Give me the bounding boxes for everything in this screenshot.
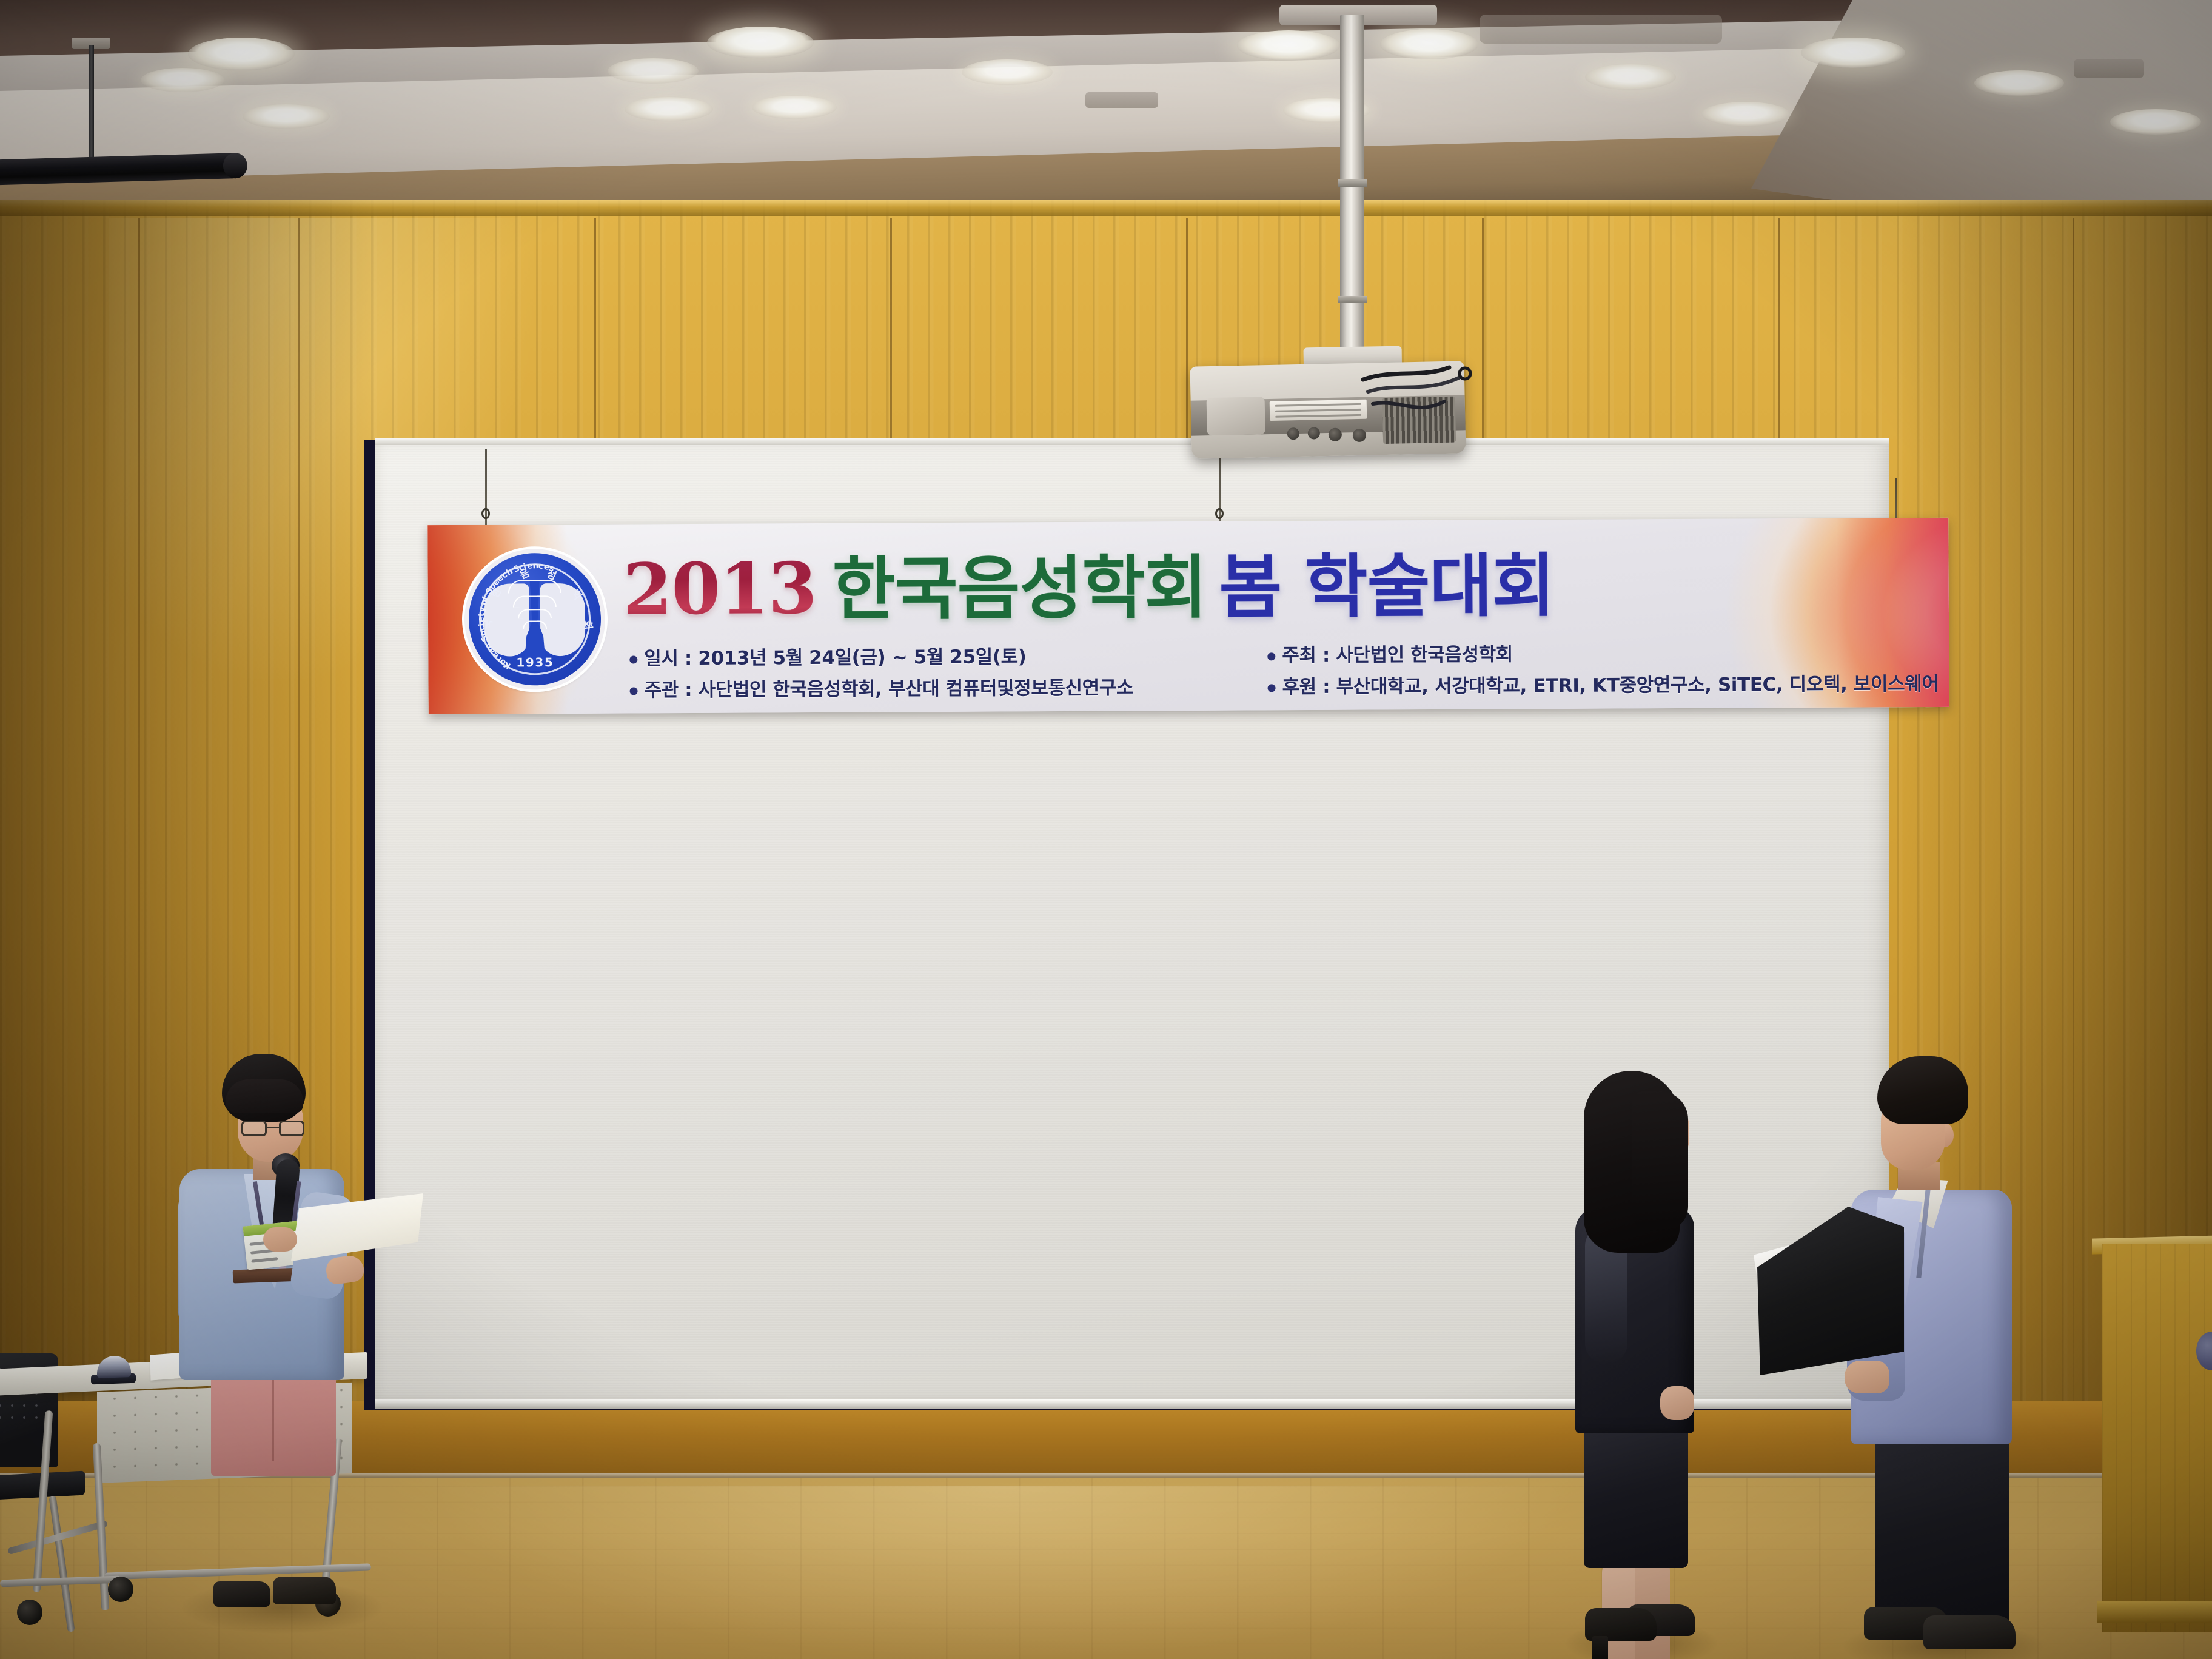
banner-info-organizer: 주관 : 사단법인 한국음성학회, 부산대 컴퓨터및정보통신연구소 — [629, 672, 1133, 702]
emblem-year: 1935 — [516, 655, 554, 669]
wall-panel-seam — [138, 218, 140, 1455]
ceiling-vent — [2074, 59, 2144, 78]
downlight — [1585, 64, 1676, 90]
ceiling-vent — [1480, 15, 1722, 44]
banner-info-date: 일시 : 2013년 5월 24일(금) ~ 5월 25일(토) — [629, 641, 1026, 670]
banner-title-year: 2013 — [623, 548, 833, 631]
banner-info-host-text: 주최 : 사단법인 한국음성학회 — [1282, 643, 1513, 666]
emblem-disc: 한 국 음 성 학 회 1935 K o r e a n S o c i — [468, 553, 601, 686]
downlight — [141, 68, 224, 92]
banner-info-sponsors-text: 후원 : 부산대학교, 서강대학교, ETRI, KT중앙연구소, SiTEC,… — [1282, 673, 1939, 698]
projector-pole-joint — [1338, 179, 1367, 187]
conference-hall-photo: 한 국 음 성 학 회 1935 K o r e a n S o c i — [0, 0, 2212, 1659]
emblem-rim-char-hoe: 회 — [580, 619, 597, 631]
floor-reflection — [424, 1486, 1577, 1659]
table-caster — [17, 1600, 42, 1625]
emblem-sound-arc — [518, 609, 552, 618]
presenter-hand — [1845, 1361, 1889, 1393]
projector-port — [1329, 428, 1342, 441]
table-caster — [108, 1577, 133, 1602]
presenter-hair — [1877, 1056, 1968, 1124]
mc-shoe-left — [213, 1581, 270, 1607]
presenter-shoe-right — [1923, 1615, 2016, 1649]
downlight — [752, 96, 837, 119]
projector-port — [1287, 427, 1299, 440]
mc-shoe-right — [273, 1577, 336, 1604]
downlight — [188, 38, 295, 70]
bullet-icon — [1268, 684, 1276, 692]
track-stem — [89, 45, 94, 163]
emblem-sound-arc — [513, 595, 557, 607]
downlight — [1380, 29, 1478, 59]
mc-left-hand — [263, 1227, 297, 1252]
badge-text-line — [251, 1257, 278, 1263]
bullet-icon — [1267, 652, 1275, 660]
banner-info-date-text: 일시 : 2013년 5월 24일(금) ~ 5월 25일(토) — [644, 646, 1026, 669]
downlight — [608, 58, 699, 84]
recipient-skirt — [1584, 1419, 1688, 1568]
projector-port — [1353, 429, 1366, 442]
projector-port — [1308, 427, 1320, 439]
emblem-sound-arc — [523, 620, 547, 629]
banner-title-event: 봄 학술대회 — [1219, 546, 1555, 628]
banner-info-host: 주최 : 사단법인 한국음성학회 — [1267, 638, 1513, 667]
recipient-hands — [1660, 1386, 1694, 1420]
downlight — [625, 97, 713, 121]
conference-banner: 한 국 음 성 학 회 1935 K o r e a n S o c i — [427, 518, 1949, 714]
downlight — [2110, 109, 2201, 135]
projector-label — [1270, 400, 1367, 421]
podium — [2102, 1244, 2212, 1632]
downlight — [707, 27, 814, 58]
banner-wire-hook — [481, 508, 490, 519]
mc-hair-fringe — [226, 1079, 303, 1113]
recipient-hair-front — [1632, 1091, 1688, 1231]
downlight — [962, 59, 1053, 85]
banner-wire-hook — [1215, 508, 1224, 519]
ceiling-projector — [1190, 361, 1466, 458]
downlight — [1974, 70, 2064, 96]
projection-screen-top-rail — [375, 438, 1889, 445]
downlight — [1801, 38, 1905, 68]
presenter-trousers — [1875, 1431, 2009, 1631]
downlight — [1237, 30, 1340, 61]
downlight — [243, 104, 330, 129]
wall-panel-seam — [2073, 218, 2074, 1455]
society-emblem: 한 국 음 성 학 회 1935 K o r e a n S o c i — [464, 549, 605, 690]
recipient-shoe-heel — [1592, 1636, 1608, 1659]
banner-title: 2013한국음성학회봄 학술대회 — [623, 538, 1915, 634]
bullet-icon — [629, 655, 637, 663]
banner-info-organizer-text: 주관 : 사단법인 한국음성학회, 부산대 컴퓨터및정보통신연구소 — [644, 677, 1133, 701]
downlight — [1701, 102, 1790, 126]
projector-exhaust-vent — [1382, 397, 1456, 444]
podium-base — [2097, 1601, 2212, 1623]
bullet-icon — [630, 687, 638, 695]
glasses-icon — [241, 1121, 304, 1138]
banner-info-sponsors: 후원 : 부산대학교, 서강대학교, ETRI, KT중앙연구소, SiTEC,… — [1267, 668, 1939, 699]
banner-title-society: 한국음성학회 — [832, 548, 1219, 629]
projector-lens-housing — [1207, 397, 1265, 435]
ceiling-vent — [1085, 92, 1158, 108]
projector-pole-joint — [1338, 296, 1367, 303]
